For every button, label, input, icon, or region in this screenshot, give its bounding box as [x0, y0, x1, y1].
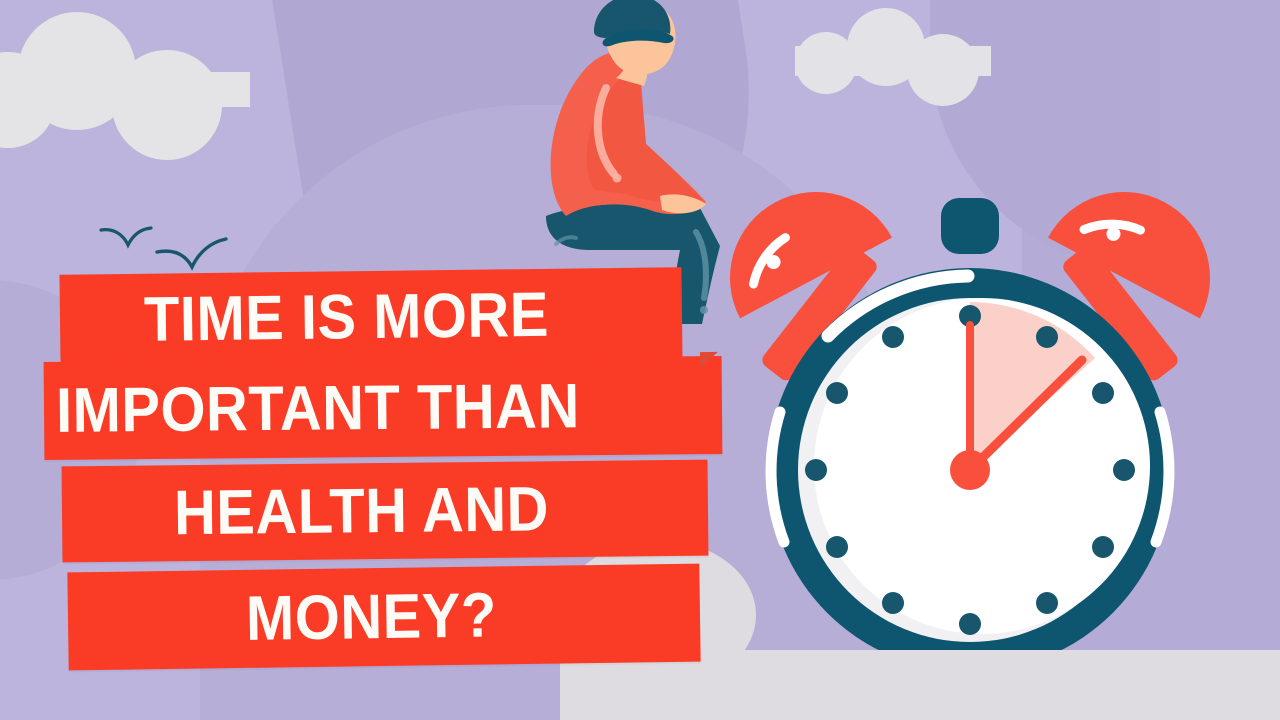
- birds-group: [95, 212, 255, 272]
- poster-canvas: TIME IS MORE IMPORTANT THAN HEALTH AND M…: [0, 0, 1280, 720]
- headline-line-3: HEALTH AND: [174, 478, 550, 545]
- clock-center-hub: [950, 450, 990, 490]
- sweater-detail: [613, 174, 622, 183]
- clock-knob: [941, 198, 999, 254]
- headline-bar-2-fold: [700, 352, 718, 368]
- cloud-top-left: [0, 12, 250, 107]
- cloud-base: [795, 46, 991, 76]
- headline-line-2: IMPORTANT THAN: [56, 375, 580, 443]
- bird-icon: [157, 239, 226, 267]
- headline-bar-3: HEALTH AND: [62, 460, 709, 563]
- headline-bar-4: MONEY?: [67, 564, 700, 671]
- headline-bar-1: TIME IS MORE: [59, 267, 682, 367]
- jeans-detail: [700, 306, 708, 314]
- headline-line-1: TIME IS MORE: [144, 283, 550, 351]
- bird-icon: [101, 228, 151, 245]
- cloud-base: [0, 72, 250, 107]
- headline-line-4: MONEY?: [246, 584, 498, 650]
- cloud-top-right: [795, 8, 991, 76]
- headline-bar-2: IMPORTANT THAN: [44, 356, 723, 460]
